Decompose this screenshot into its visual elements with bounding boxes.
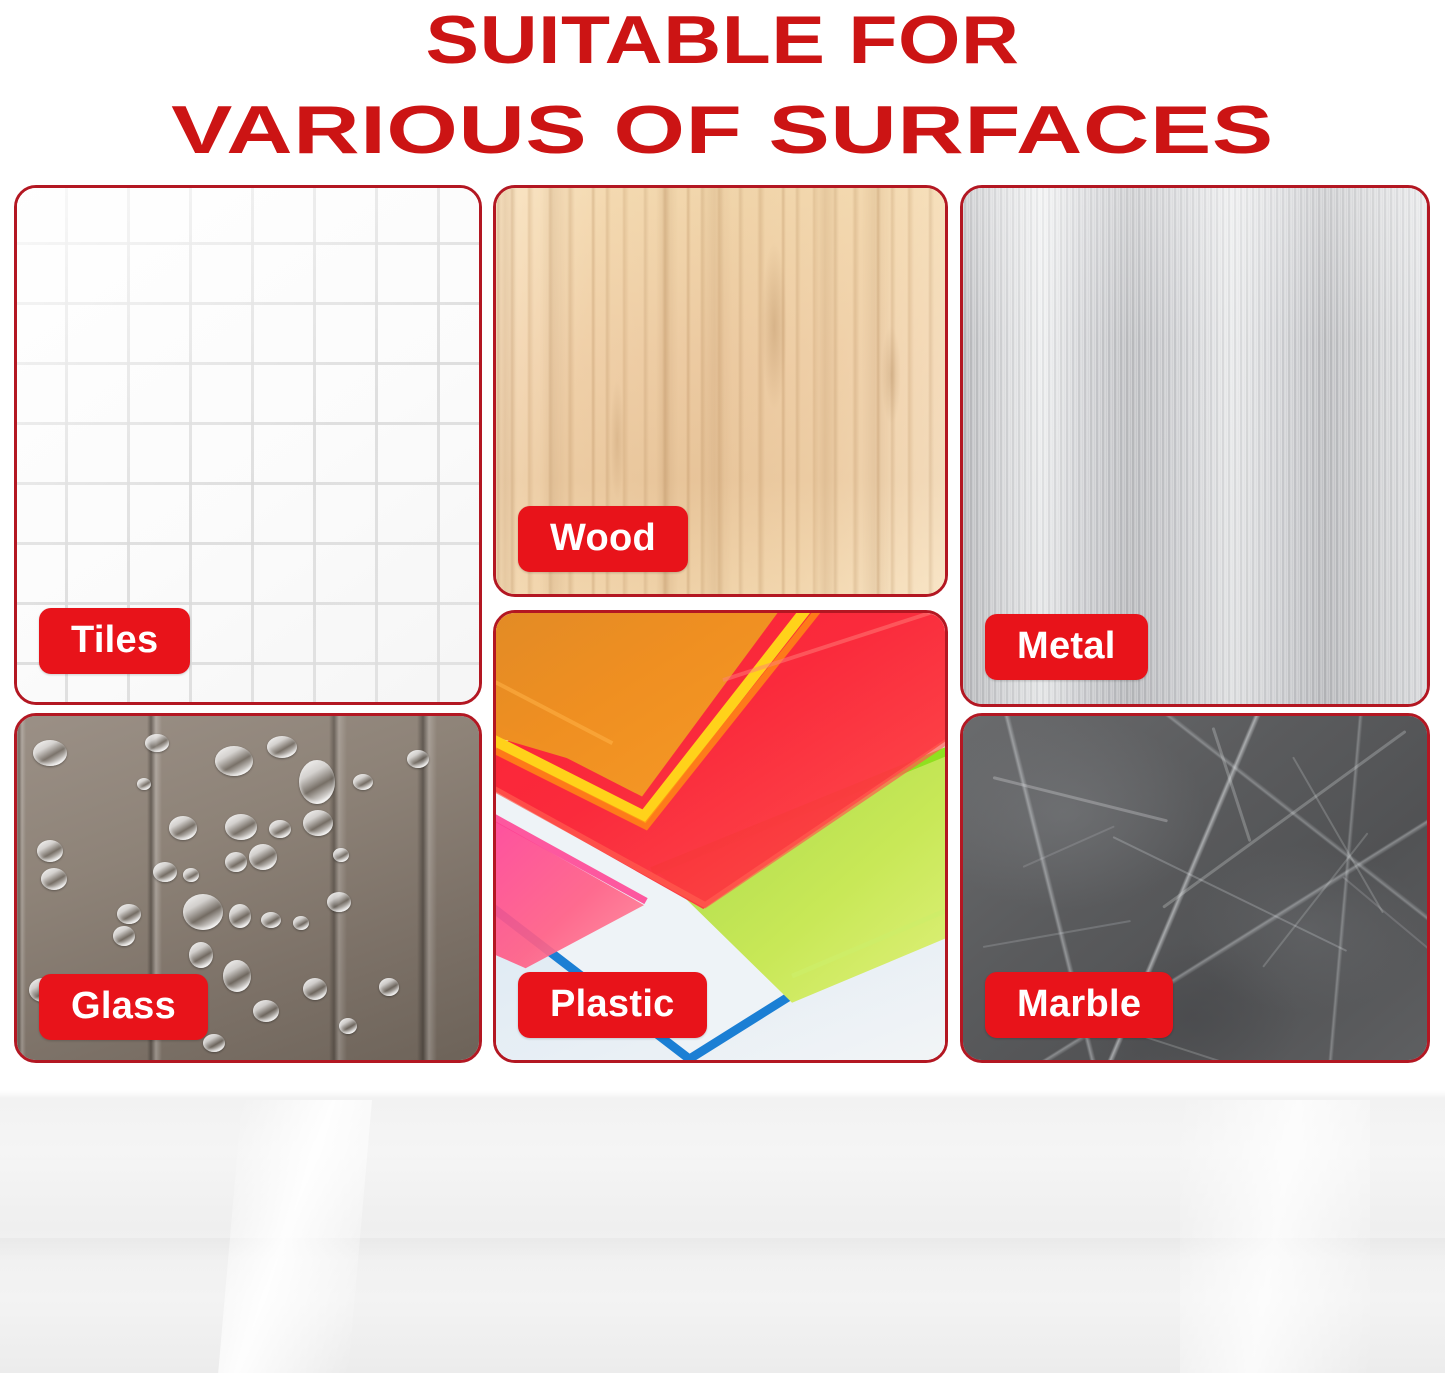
surface-card-glass[interactable]: Glass <box>14 713 482 1063</box>
surface-panel-grid: Tiles Wood Metal <box>0 178 1445 1078</box>
surface-label-glass: Glass <box>39 974 208 1040</box>
surface-label-metal: Metal <box>985 614 1148 680</box>
surface-label-marble: Marble <box>985 972 1173 1038</box>
headline-line-1: SUITABLE FOR <box>0 0 1445 74</box>
surface-label-wood: Wood <box>518 506 688 572</box>
surface-card-wood[interactable]: Wood <box>493 185 948 597</box>
surface-card-tiles[interactable]: Tiles <box>14 185 482 705</box>
surface-label-tiles: Tiles <box>39 608 190 674</box>
product-sheen-left <box>218 1100 372 1373</box>
headline-line-2: VARIOUS OF SURFACES <box>0 74 1445 164</box>
surface-label-plastic: Plastic <box>518 972 707 1038</box>
product-sheen-right <box>1180 1100 1370 1373</box>
surface-card-plastic[interactable]: Plastic <box>493 610 948 1063</box>
surface-card-marble[interactable]: Marble <box>960 713 1430 1063</box>
surface-card-metal[interactable]: Metal <box>960 185 1430 707</box>
headline-banner: SUITABLE FOR VARIOUS OF SURFACES <box>0 0 1445 178</box>
product-photo-strip <box>0 1090 1445 1373</box>
product-top-highlight <box>0 1090 1445 1098</box>
